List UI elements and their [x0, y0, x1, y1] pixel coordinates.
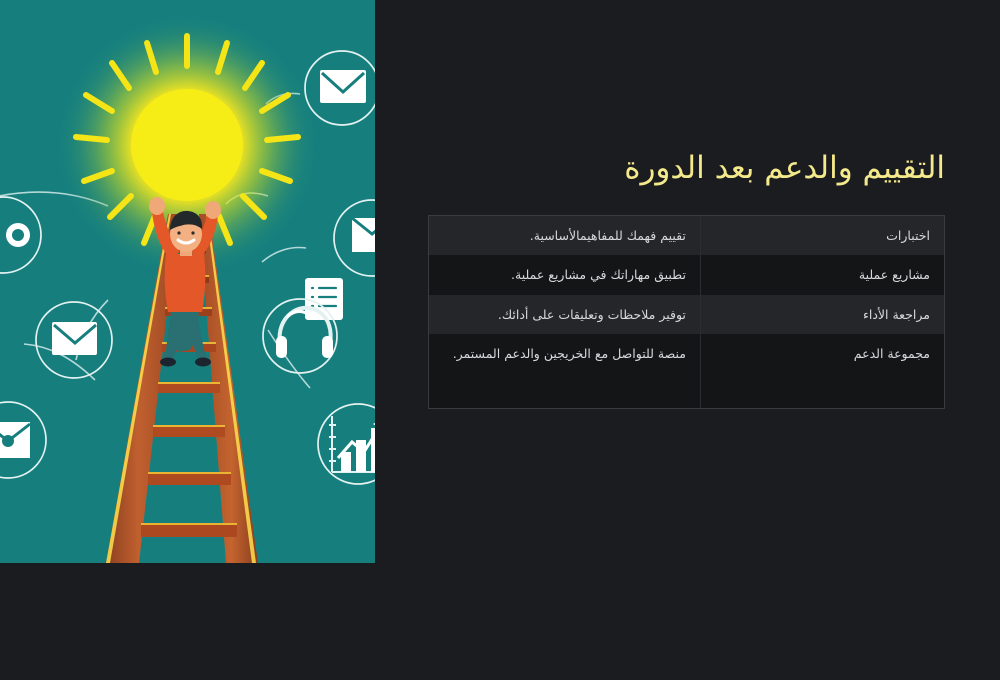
table: اختبارات تقييم فهمك للمفاهيمالأساسية. مش…: [429, 216, 944, 408]
evaluation-support-table: اختبارات تقييم فهمك للمفاهيمالأساسية. مش…: [428, 215, 945, 409]
table-cell-description: توفير ملاحظات وتعليقات على أدائك.: [429, 295, 700, 334]
table-row: مراجعة الأداء توفير ملاحظات وتعليقات على…: [429, 295, 944, 334]
table-cell-term: مشاريع عملية: [700, 255, 944, 294]
page-title: التقييم والدعم بعد الدورة: [425, 149, 945, 188]
ladder-to-sun-illustration: [0, 0, 375, 563]
table-body: اختبارات تقييم فهمك للمفاهيمالأساسية. مش…: [429, 216, 944, 408]
table-row: اختبارات تقييم فهمك للمفاهيمالأساسية.: [429, 216, 944, 255]
table-cell-term: مجموعة الدعم: [700, 334, 944, 407]
sun-core: [131, 89, 243, 201]
slide-content: التقييم والدعم بعد الدورة اختبارات تقييم…: [400, 0, 1000, 680]
table-cell-term: مراجعة الأداء: [700, 295, 944, 334]
table-cell-description: تقييم فهمك للمفاهيمالأساسية.: [429, 216, 700, 255]
table-row: مجموعة الدعم منصة للتواصل مع الخريجين وا…: [429, 334, 944, 407]
table-cell-description: تطبيق مهاراتك في مشاريع عملية.: [429, 255, 700, 294]
illustration-panel: [0, 0, 375, 563]
table-cell-description: منصة للتواصل مع الخريجين والدعم المستمر.: [429, 334, 700, 407]
table-cell-term: اختبارات: [700, 216, 944, 255]
table-row: مشاريع عملية تطبيق مهاراتك في مشاريع عمل…: [429, 255, 944, 294]
